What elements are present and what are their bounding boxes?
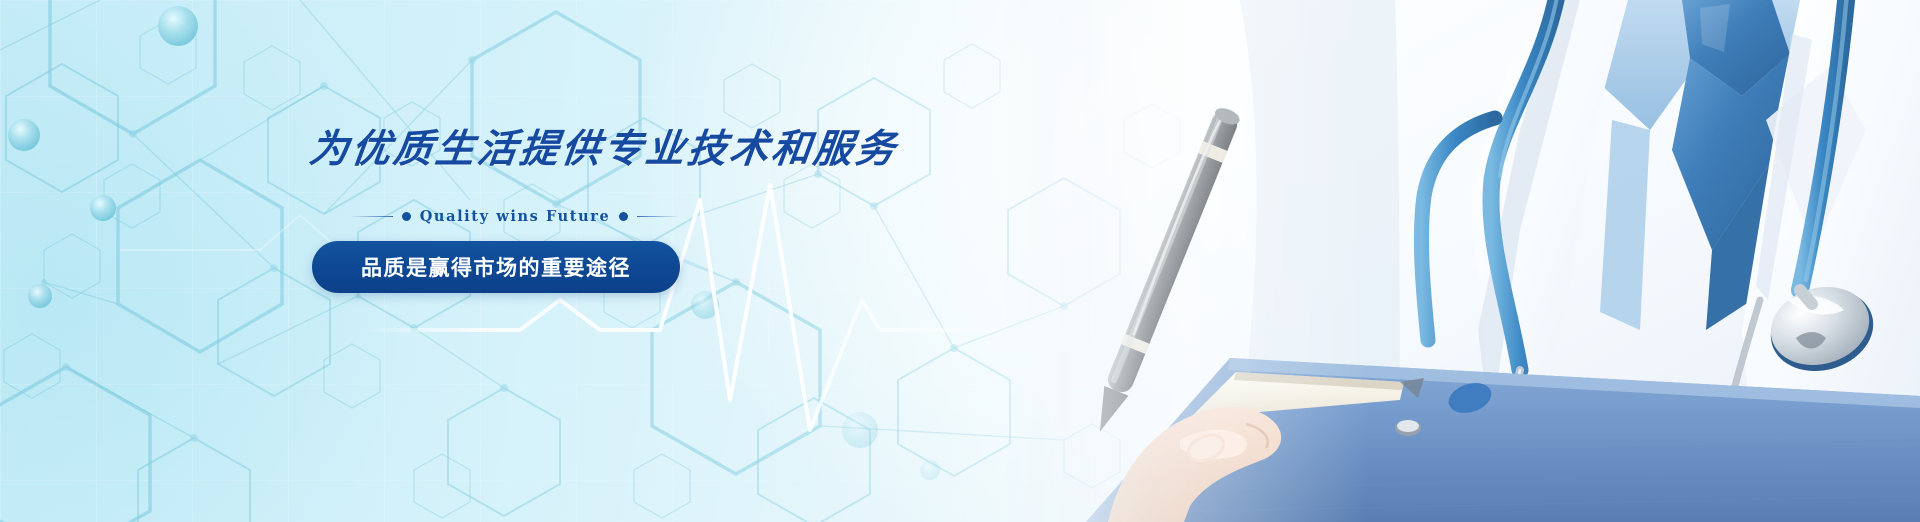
tagline-dot-left-icon (402, 212, 411, 221)
slogan-pill-label: 品质是赢得市场的重要途径 (361, 252, 631, 282)
tagline-english: Quality wins Future (420, 208, 611, 225)
banner-content: 为优质生活提供专业技术和服务 Quality wins Future 品质是赢得… (310, 118, 1070, 293)
slogan-pill[interactable]: 品质是赢得市场的重要途径 (312, 241, 680, 293)
tagline-rule-left (350, 216, 393, 217)
tagline-dot-right-icon (619, 212, 628, 221)
promo-banner: 为优质生活提供专业技术和服务 Quality wins Future 品质是赢得… (0, 0, 1920, 522)
page-title: 为优质生活提供专业技术和服务 (307, 118, 1074, 174)
tagline-row: Quality wins Future (350, 208, 680, 225)
tagline-rule-right (637, 216, 680, 217)
